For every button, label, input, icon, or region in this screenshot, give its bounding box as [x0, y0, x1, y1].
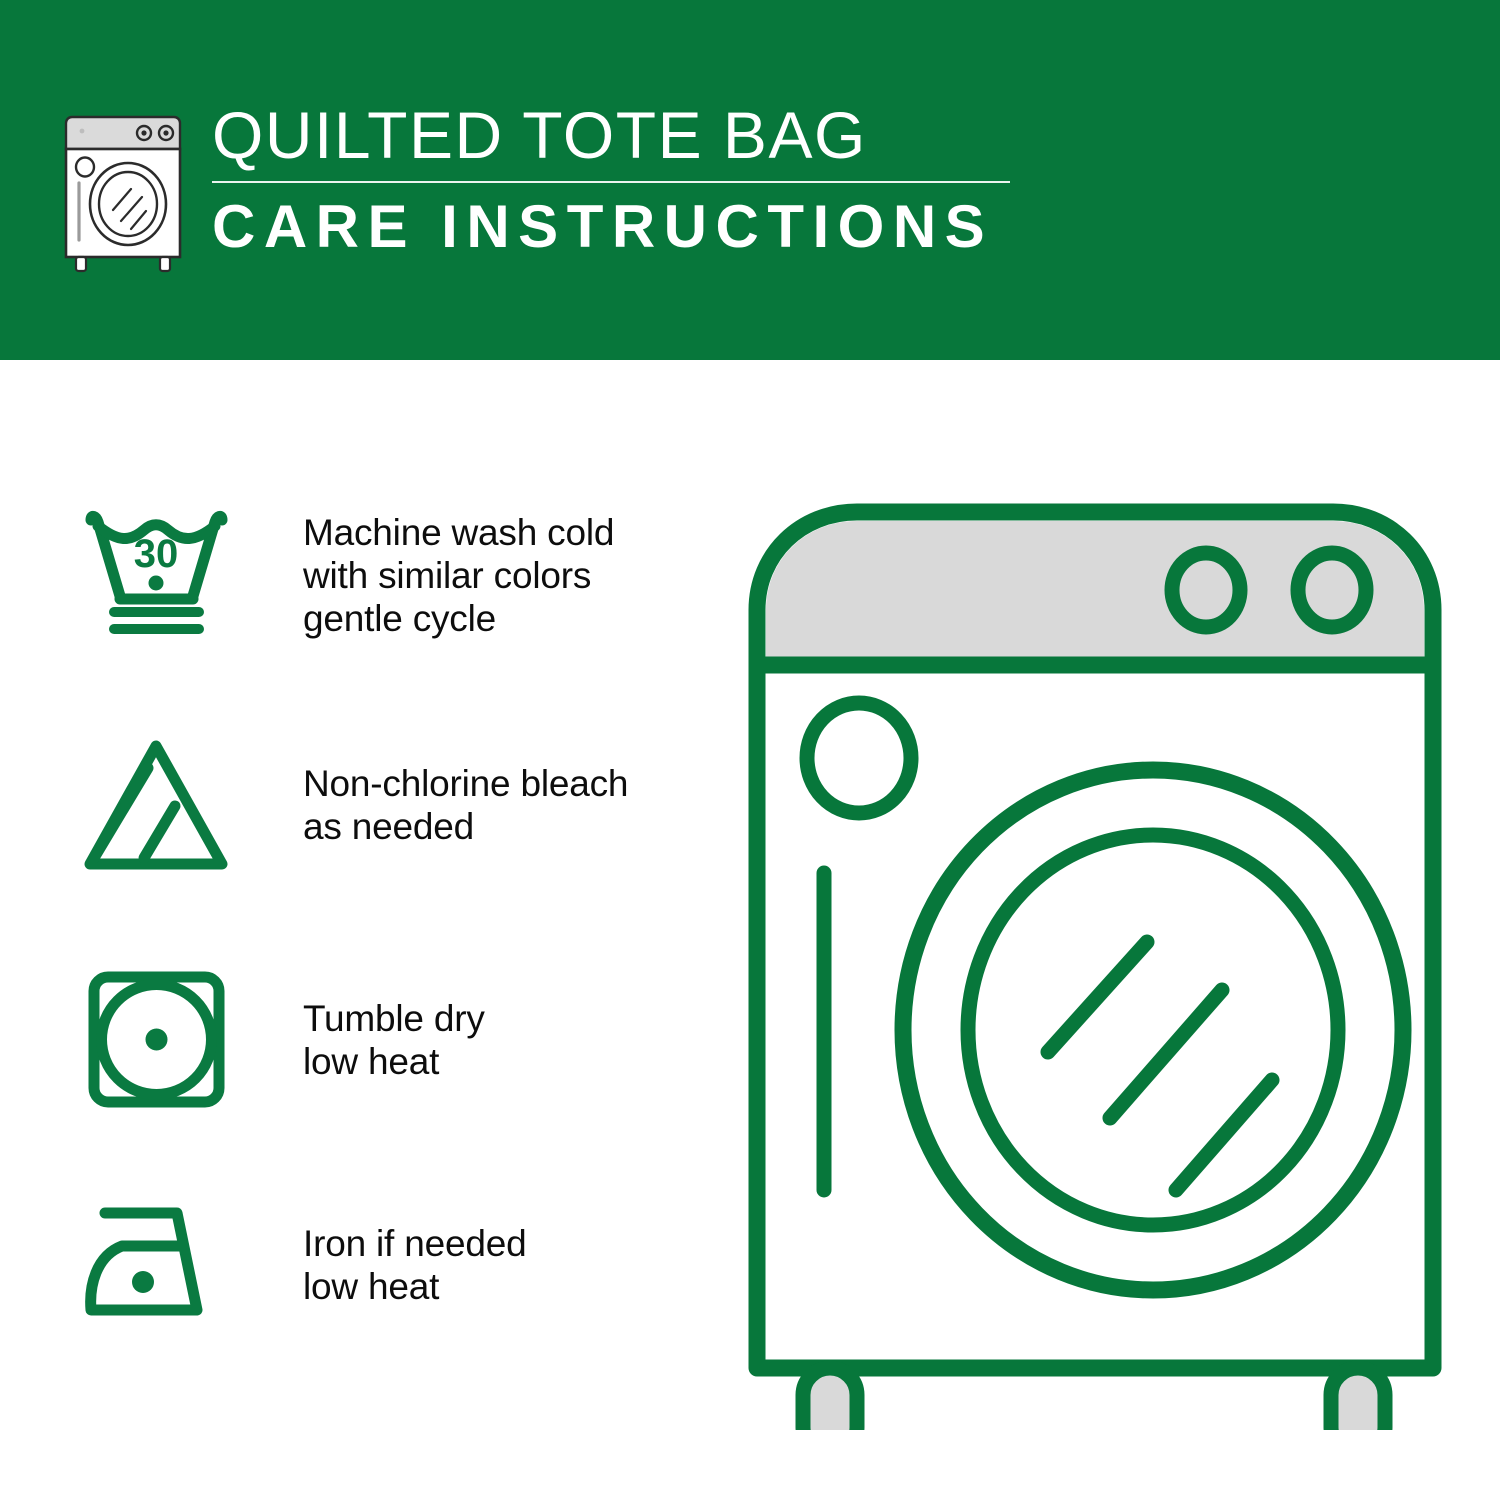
iron-low-heat-icon — [74, 1190, 239, 1340]
care-item-label: Non-chlorine bleach as needed — [303, 762, 628, 848]
header-banner: QUILTED TOTE BAG CARE INSTRUCTIONS — [0, 0, 1500, 360]
care-item-iron: Iron if needed low heat — [74, 1190, 714, 1340]
title-divider — [212, 181, 1010, 183]
page-subtitle: CARE INSTRUCTIONS — [212, 194, 1012, 260]
care-item-tumble-dry: Tumble dry low heat — [74, 965, 714, 1115]
non-chlorine-bleach-triangle-icon — [74, 730, 239, 880]
care-text-line: Tumble dry — [303, 997, 485, 1040]
care-text-line: Iron if needed — [303, 1222, 526, 1265]
washing-machine-large-icon — [735, 490, 1455, 1430]
care-item-bleach: Non-chlorine bleach as needed — [74, 730, 714, 880]
care-item-label: Tumble dry low heat — [303, 997, 485, 1083]
washing-machine-icon — [58, 105, 188, 275]
care-text-line: Non-chlorine bleach — [303, 762, 628, 805]
wash-tub-30-gentle-icon: 30 — [74, 500, 239, 650]
care-text-line: low heat — [303, 1040, 485, 1083]
page-title: QUILTED TOTE BAG — [212, 98, 1012, 172]
care-instructions-infographic: QUILTED TOTE BAG CARE INSTRUCTIONS — [0, 0, 1500, 1500]
care-text-line: as needed — [303, 805, 628, 848]
care-item-label: Iron if needed low heat — [303, 1222, 526, 1308]
care-text-line: Machine wash cold — [303, 511, 614, 554]
care-instruction-list: 30 Machine wash cold with similar colors… — [0, 360, 720, 1500]
header-titles: QUILTED TOTE BAG CARE INSTRUCTIONS — [212, 96, 1012, 260]
care-item-label: Machine wash cold with similar colors ge… — [303, 511, 614, 640]
header-content: QUILTED TOTE BAG CARE INSTRUCTIONS — [58, 96, 1058, 281]
care-item-machine-wash: 30 Machine wash cold with similar colors… — [74, 500, 714, 650]
care-text-line: with similar colors — [303, 554, 614, 597]
care-text-line: gentle cycle — [303, 597, 614, 640]
wash-temperature-label: 30 — [134, 532, 179, 576]
tumble-dry-low-heat-icon — [74, 965, 239, 1115]
care-text-line: low heat — [303, 1265, 526, 1308]
